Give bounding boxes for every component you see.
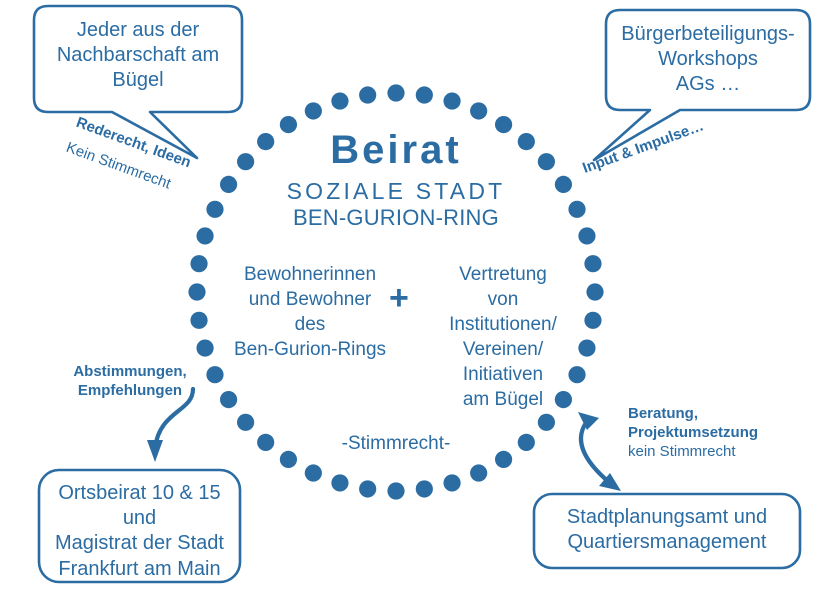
ring-dot: [206, 201, 223, 218]
speech-bubble-top-right-text: Bürgerbeteiligungs- Workshops AGs …: [608, 22, 808, 98]
page-subtitle: SOZIALE STADT: [246, 180, 546, 203]
diagram-canvas: Jeder aus der Nachbarschaft am Bügel Bür…: [0, 0, 820, 600]
annotation-kein-stimmrecht-bottom: kein Stimmrecht: [628, 442, 808, 461]
ring-dot: [331, 92, 348, 109]
ring-dot: [538, 414, 555, 431]
speech-bubble-top-left-text: Jeder aus der Nachbarschaft am Bügel: [36, 18, 240, 94]
arrow-beratung: [578, 412, 621, 491]
box-bottom-right-text: Stadtplanungsamt und Quartiersmanagement: [536, 505, 798, 555]
plus-icon: +: [389, 281, 409, 315]
ring-dot: [190, 312, 207, 329]
box-bottom-left-text: Ortsbeirat 10 & 15 und Magistrat der Sta…: [41, 481, 238, 582]
page-subtitle-secondary: BEN-GURION-RING: [246, 207, 546, 229]
ring-dot: [190, 255, 207, 272]
ring-dot: [196, 227, 213, 244]
ring-dot: [305, 102, 322, 119]
members-institutions-column: Vertretung von Institutionen/ Vereinen/ …: [420, 262, 586, 412]
ring-dot: [443, 92, 460, 109]
ring-dot: [359, 480, 376, 497]
ring-dot: [220, 176, 237, 193]
page-title: Beirat: [246, 130, 546, 170]
ring-dot: [443, 474, 460, 491]
ring-dot: [188, 283, 205, 300]
ring-dot: [470, 464, 487, 481]
ring-dot: [584, 255, 601, 272]
ring-dot: [518, 434, 535, 451]
ring-dot: [305, 464, 322, 481]
ring-dot: [470, 102, 487, 119]
ring-dot: [495, 451, 512, 468]
ring-dot: [237, 414, 254, 431]
voting-rights-note: -Stimmrecht-: [296, 432, 496, 456]
ring-dot: [584, 312, 601, 329]
members-residents-column: Bewohnerinnen und Bewohner des Ben-Gurio…: [222, 262, 398, 362]
ring-dot: [416, 480, 433, 497]
ring-dot: [555, 176, 572, 193]
ring-dot: [257, 434, 274, 451]
ring-dot: [387, 482, 404, 499]
ring-dot: [568, 201, 585, 218]
ring-dot: [416, 86, 433, 103]
ring-dot: [331, 474, 348, 491]
ring-dot: [578, 227, 595, 244]
annotation-beratung-projektumsetzung: Beratung, Projektumsetzung: [628, 404, 808, 442]
ring-dot: [280, 451, 297, 468]
annotation-abstimmungen-empfehlungen: Abstimmungen, Empfehlungen: [50, 362, 210, 400]
ring-dot: [586, 283, 603, 300]
ring-dot: [359, 86, 376, 103]
ring-dot: [220, 391, 237, 408]
ring-dot: [387, 84, 404, 101]
ring-dot: [196, 339, 213, 356]
